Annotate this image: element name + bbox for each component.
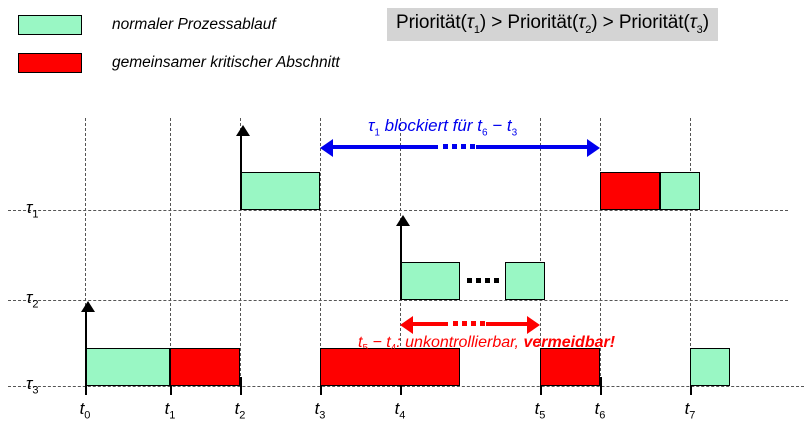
timing-diagram: τ1τ2τ3t0t1t2t3t4t5t6t7τ1 blockiert für t… — [0, 110, 812, 432]
uncontrollable-annotation-arrowhead-left-icon — [400, 316, 413, 334]
block-tau3-normal-0 — [85, 348, 170, 386]
row-label-tau-2: τ2 — [26, 288, 38, 310]
blocking-annotation-arrowhead-left-icon — [320, 139, 333, 157]
priority-text-part-1: Priorität( — [396, 12, 467, 33]
priority-text-part-4: ) — [703, 12, 709, 33]
block-tau3-critical-1 — [170, 348, 240, 386]
legend-item-critical: gemeinsamer kritischer Abschnitt — [18, 48, 378, 78]
blocking-annotation-dotted-gap — [440, 144, 478, 149]
row-label-tau-1: τ1 — [26, 198, 38, 220]
legend-item-normal: normaler Prozessablauf — [18, 10, 378, 40]
block-tau1-normal-2 — [660, 172, 700, 210]
tick-label-t7: t7 — [670, 399, 710, 421]
uncontrollable-annotation-arrowhead-right-icon — [527, 316, 540, 334]
release-arrow-tau1-0 — [240, 134, 242, 210]
baseline-tau-3 — [8, 386, 804, 387]
tick-t2 — [240, 377, 242, 395]
legend: normaler Prozessablauf gemeinsamer kriti… — [18, 10, 378, 86]
priority-text-part-3: ) > Priorität( — [591, 12, 689, 33]
gridline-t7 — [690, 118, 691, 386]
tick-label-t0: t0 — [65, 399, 105, 421]
tick-label-t5: t5 — [520, 399, 560, 421]
priority-tau-1: τ — [467, 12, 474, 33]
tick-label-t1: t1 — [150, 399, 190, 421]
gridline-t3 — [320, 118, 321, 386]
block-tau2-normal-0 — [400, 262, 460, 300]
block-tau2-normal-1 — [505, 262, 545, 300]
row-label-tau-3: τ3 — [26, 374, 38, 396]
tick-label-t6: t6 — [580, 399, 620, 421]
blocking-annotation-line-right — [476, 145, 587, 149]
release-arrow-tau2-0 — [400, 224, 402, 300]
uncontrollable-annotation-label: t5 − t4: unkontrollierbar, vermeidbar! — [358, 334, 615, 354]
legend-label-normal: normaler Prozessablauf — [112, 16, 276, 34]
blocking-annotation-label: τ1 blockiert für t6 − t3 — [368, 116, 517, 138]
tick-label-t2: t2 — [220, 399, 260, 421]
gridline-t1 — [170, 118, 171, 386]
legend-swatch-critical-icon — [18, 53, 82, 73]
block-tau1-normal-0 — [240, 172, 320, 210]
legend-label-critical: gemeinsamer kritischer Abschnitt — [112, 54, 340, 72]
legend-swatch-normal-icon — [18, 15, 82, 35]
priority-text-part-2: ) > Priorität( — [480, 12, 578, 33]
baseline-tau-2 — [8, 300, 788, 301]
release-arrow-tau3-0 — [85, 310, 87, 386]
uncontrollable-annotation-line-left — [413, 322, 448, 326]
uncontrollable-annotation-line-right — [486, 322, 527, 326]
uncontrollable-annotation-dotted-gap — [450, 321, 488, 326]
priority-relation-box: Priorität(τ1) > Priorität(τ2) > Prioritä… — [387, 8, 718, 41]
block-tau1-critical-1 — [600, 172, 660, 210]
tick-t6 — [600, 377, 602, 395]
priority-tau-3: τ — [690, 12, 697, 33]
baseline-tau-1 — [8, 210, 788, 211]
block-tau3-normal-4 — [690, 348, 730, 386]
blocking-annotation-line-left — [333, 145, 438, 149]
tick-label-t3: t3 — [300, 399, 340, 421]
blocking-annotation-arrowhead-right-icon — [587, 139, 600, 157]
block-gap-dots-tau2 — [465, 278, 500, 283]
tick-label-t4: t4 — [380, 399, 420, 421]
